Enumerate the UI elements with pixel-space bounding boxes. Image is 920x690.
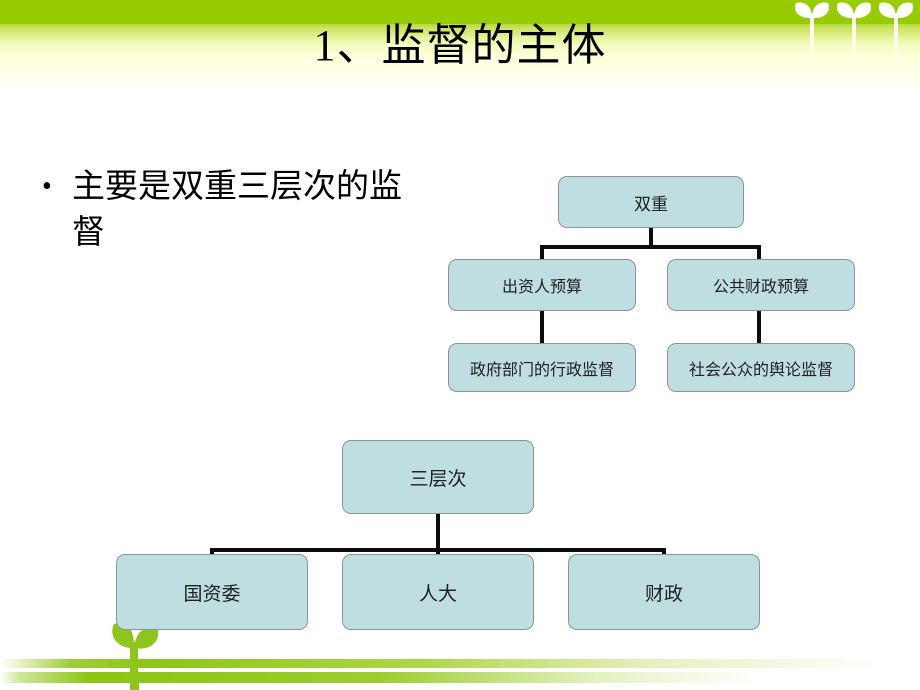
diagram1-node-left-child[interactable]: 政府部门的行政监督 (448, 343, 636, 392)
diagram1-node-right[interactable]: 公共财政预算 (667, 259, 855, 311)
diagram2-node-child-2-label: 人大 (419, 579, 457, 606)
diagram1-node-right-child-label: 社会公众的舆论监督 (689, 356, 833, 380)
bullet-marker-icon: • (42, 164, 72, 210)
diagram2-node-child-3[interactable]: 财政 (568, 554, 760, 630)
diagram1-node-right-child[interactable]: 社会公众的舆论监督 (667, 343, 855, 392)
page-title-text: 1、监督的主体 (314, 21, 607, 70)
diagram1-node-left-child-label: 政府部门的行政监督 (470, 356, 614, 380)
diagram2-node-child-1-label: 国资委 (183, 579, 240, 606)
bullet-text: 主要是双重三层次的监督 (72, 164, 422, 256)
diagram1-node-root[interactable]: 双重 (558, 176, 744, 228)
diagram2-node-child-2[interactable]: 人大 (342, 554, 534, 630)
diagram2-node-root-label: 三层次 (409, 464, 466, 491)
diagram1-connector-bar-1 (540, 245, 761, 249)
footer-sprout-stem (130, 672, 139, 690)
diagram1-connector-left-down (540, 311, 544, 344)
diagram2-node-child-1[interactable]: 国资委 (116, 554, 308, 630)
diagram1-connector-right-down (757, 311, 761, 344)
diagram1-node-left[interactable]: 出资人预算 (448, 259, 636, 311)
diagram1-node-left-label: 出资人预算 (502, 273, 582, 297)
diagram2-connector-root-stub (436, 514, 440, 552)
slide-canvas: 1、监督的主体 • 主要是双重三层次的监督 双重 出资人预算 公共财政预算 政府… (0, 0, 920, 690)
bullet-block: • 主要是双重三层次的监督 (42, 164, 442, 256)
diagram1-node-right-label: 公共财政预算 (713, 273, 809, 297)
diagram2-node-root[interactable]: 三层次 (342, 440, 534, 514)
list-item: • 主要是双重三层次的监督 (42, 164, 442, 256)
diagram2-node-child-3-label: 财政 (645, 579, 683, 606)
page-title: 1、监督的主体 (0, 18, 920, 74)
diagram1-node-root-label: 双重 (634, 190, 668, 215)
